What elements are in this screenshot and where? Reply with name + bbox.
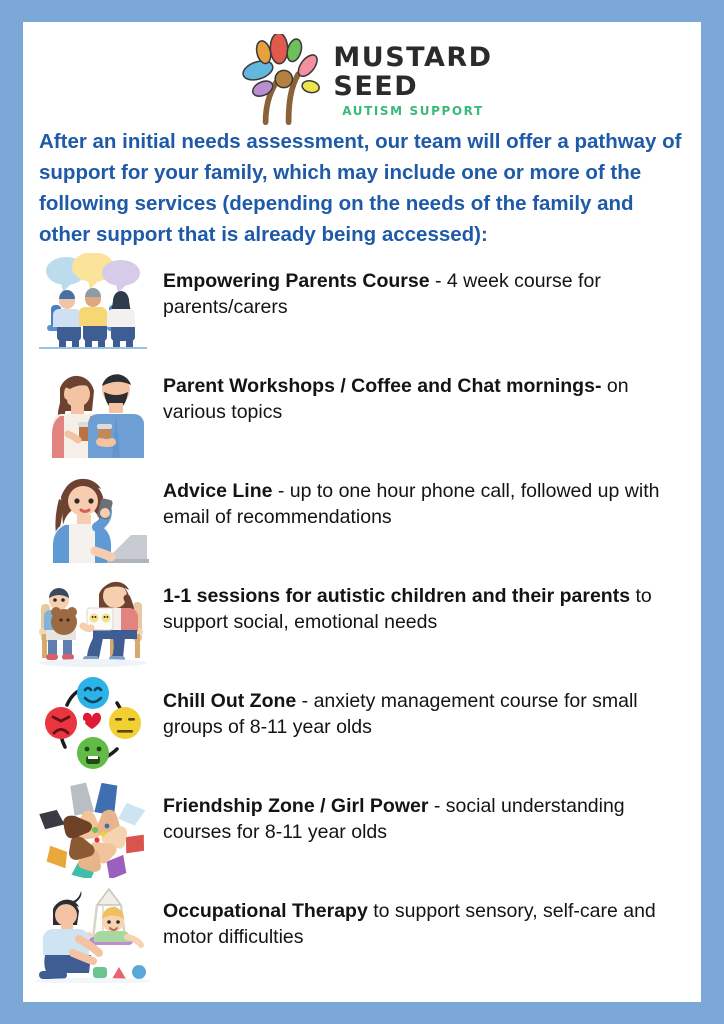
logo-tagline: AUTISM SUPPORT (333, 105, 492, 117)
service-title: 1-1 sessions for autistic children and t… (163, 585, 630, 607)
service-title: Empowering Parents Course (163, 270, 430, 292)
service-item: Empowering Parents Course - 4 week cours… (23, 250, 701, 355)
intro-paragraph: After an initial needs assessment, our t… (39, 126, 689, 251)
service-text: Friendship Zone / Girl Power - social un… (163, 775, 701, 846)
service-item: Parent Workshops / Coffee and Chat morni… (23, 355, 701, 460)
service-text: Occupational Therapy to support sensory,… (163, 880, 701, 951)
child-and-adult-session-icon (23, 565, 163, 670)
service-text: Empowering Parents Course - 4 week cours… (163, 250, 701, 321)
service-item: Advice Line - up to one hour phone call,… (23, 460, 701, 565)
service-title: Chill Out Zone (163, 690, 296, 712)
service-text: Chill Out Zone - anxiety management cour… (163, 670, 701, 741)
hands-together-icon (23, 775, 163, 880)
service-item: Occupational Therapy to support sensory,… (23, 880, 701, 985)
service-title: Friendship Zone / Girl Power (163, 795, 428, 817)
logo-word-mustard: MUSTARD (333, 44, 492, 71)
logo: MUSTARD SEED AUTISM SUPPORT (23, 30, 701, 130)
service-title: Occupational Therapy (163, 900, 368, 922)
document-page: MUSTARD SEED AUTISM SUPPORT After an ini… (23, 22, 701, 1002)
service-item: Friendship Zone / Girl Power - social un… (23, 775, 701, 880)
group-discussion-icon (23, 250, 163, 355)
service-text: 1-1 sessions for autistic children and t… (163, 565, 701, 636)
two-people-coffee-icon (23, 355, 163, 460)
service-item: 1-1 sessions for autistic children and t… (23, 565, 701, 670)
logo-tree-icon (231, 34, 327, 126)
woman-on-phone-laptop-icon (23, 460, 163, 565)
service-text: Advice Line - up to one hour phone call,… (163, 460, 701, 531)
occupational-therapy-icon (23, 880, 163, 985)
service-item: Chill Out Zone - anxiety management cour… (23, 670, 701, 775)
emotion-faces-circle-icon (23, 670, 163, 775)
service-title: Advice Line (163, 480, 272, 502)
logo-word-seed: SEED (333, 73, 492, 100)
services-list: Empowering Parents Course - 4 week cours… (23, 250, 701, 985)
service-title: Parent Workshops / Coffee and Chat morni… (163, 375, 601, 397)
service-text: Parent Workshops / Coffee and Chat morni… (163, 355, 701, 426)
